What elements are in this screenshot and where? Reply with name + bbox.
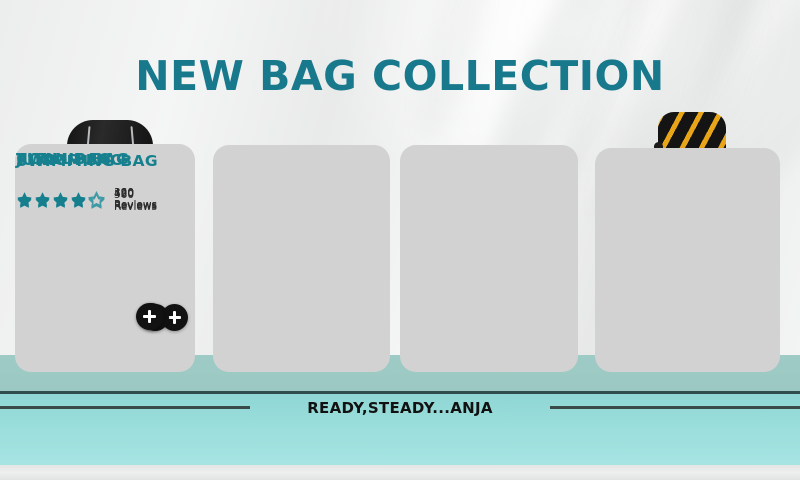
rating-row: 190 Reviews (16, 187, 157, 211)
add-to-cart-button[interactable] (136, 303, 163, 330)
product-title: ROLLUP BAG (16, 150, 129, 168)
star-outline-icon (88, 191, 105, 208)
star-filled-icon (52, 191, 69, 208)
floor-strip (0, 465, 800, 480)
review-count-block: 190 Reviews (114, 187, 157, 211)
page-title: NEW BAG COLLECTION (0, 52, 800, 100)
star-filled-icon (16, 191, 33, 208)
tagline: READY,STEADY...ANJA (0, 399, 800, 417)
star-filled-icon (34, 191, 51, 208)
product-card-junior-bag[interactable] (213, 145, 390, 372)
product-card-swimming-bag[interactable] (15, 144, 195, 372)
review-label: Reviews (114, 199, 157, 211)
promo-banner: NEW BAG COLLECTION ANJA ANJA ✦ ANJA (0, 0, 800, 480)
review-count: 190 (114, 187, 157, 199)
product-card-rollup-bag[interactable] (595, 148, 780, 372)
star-filled-icon (70, 191, 87, 208)
product-card-titan-bag[interactable] (400, 145, 578, 372)
star-rating (16, 191, 105, 208)
